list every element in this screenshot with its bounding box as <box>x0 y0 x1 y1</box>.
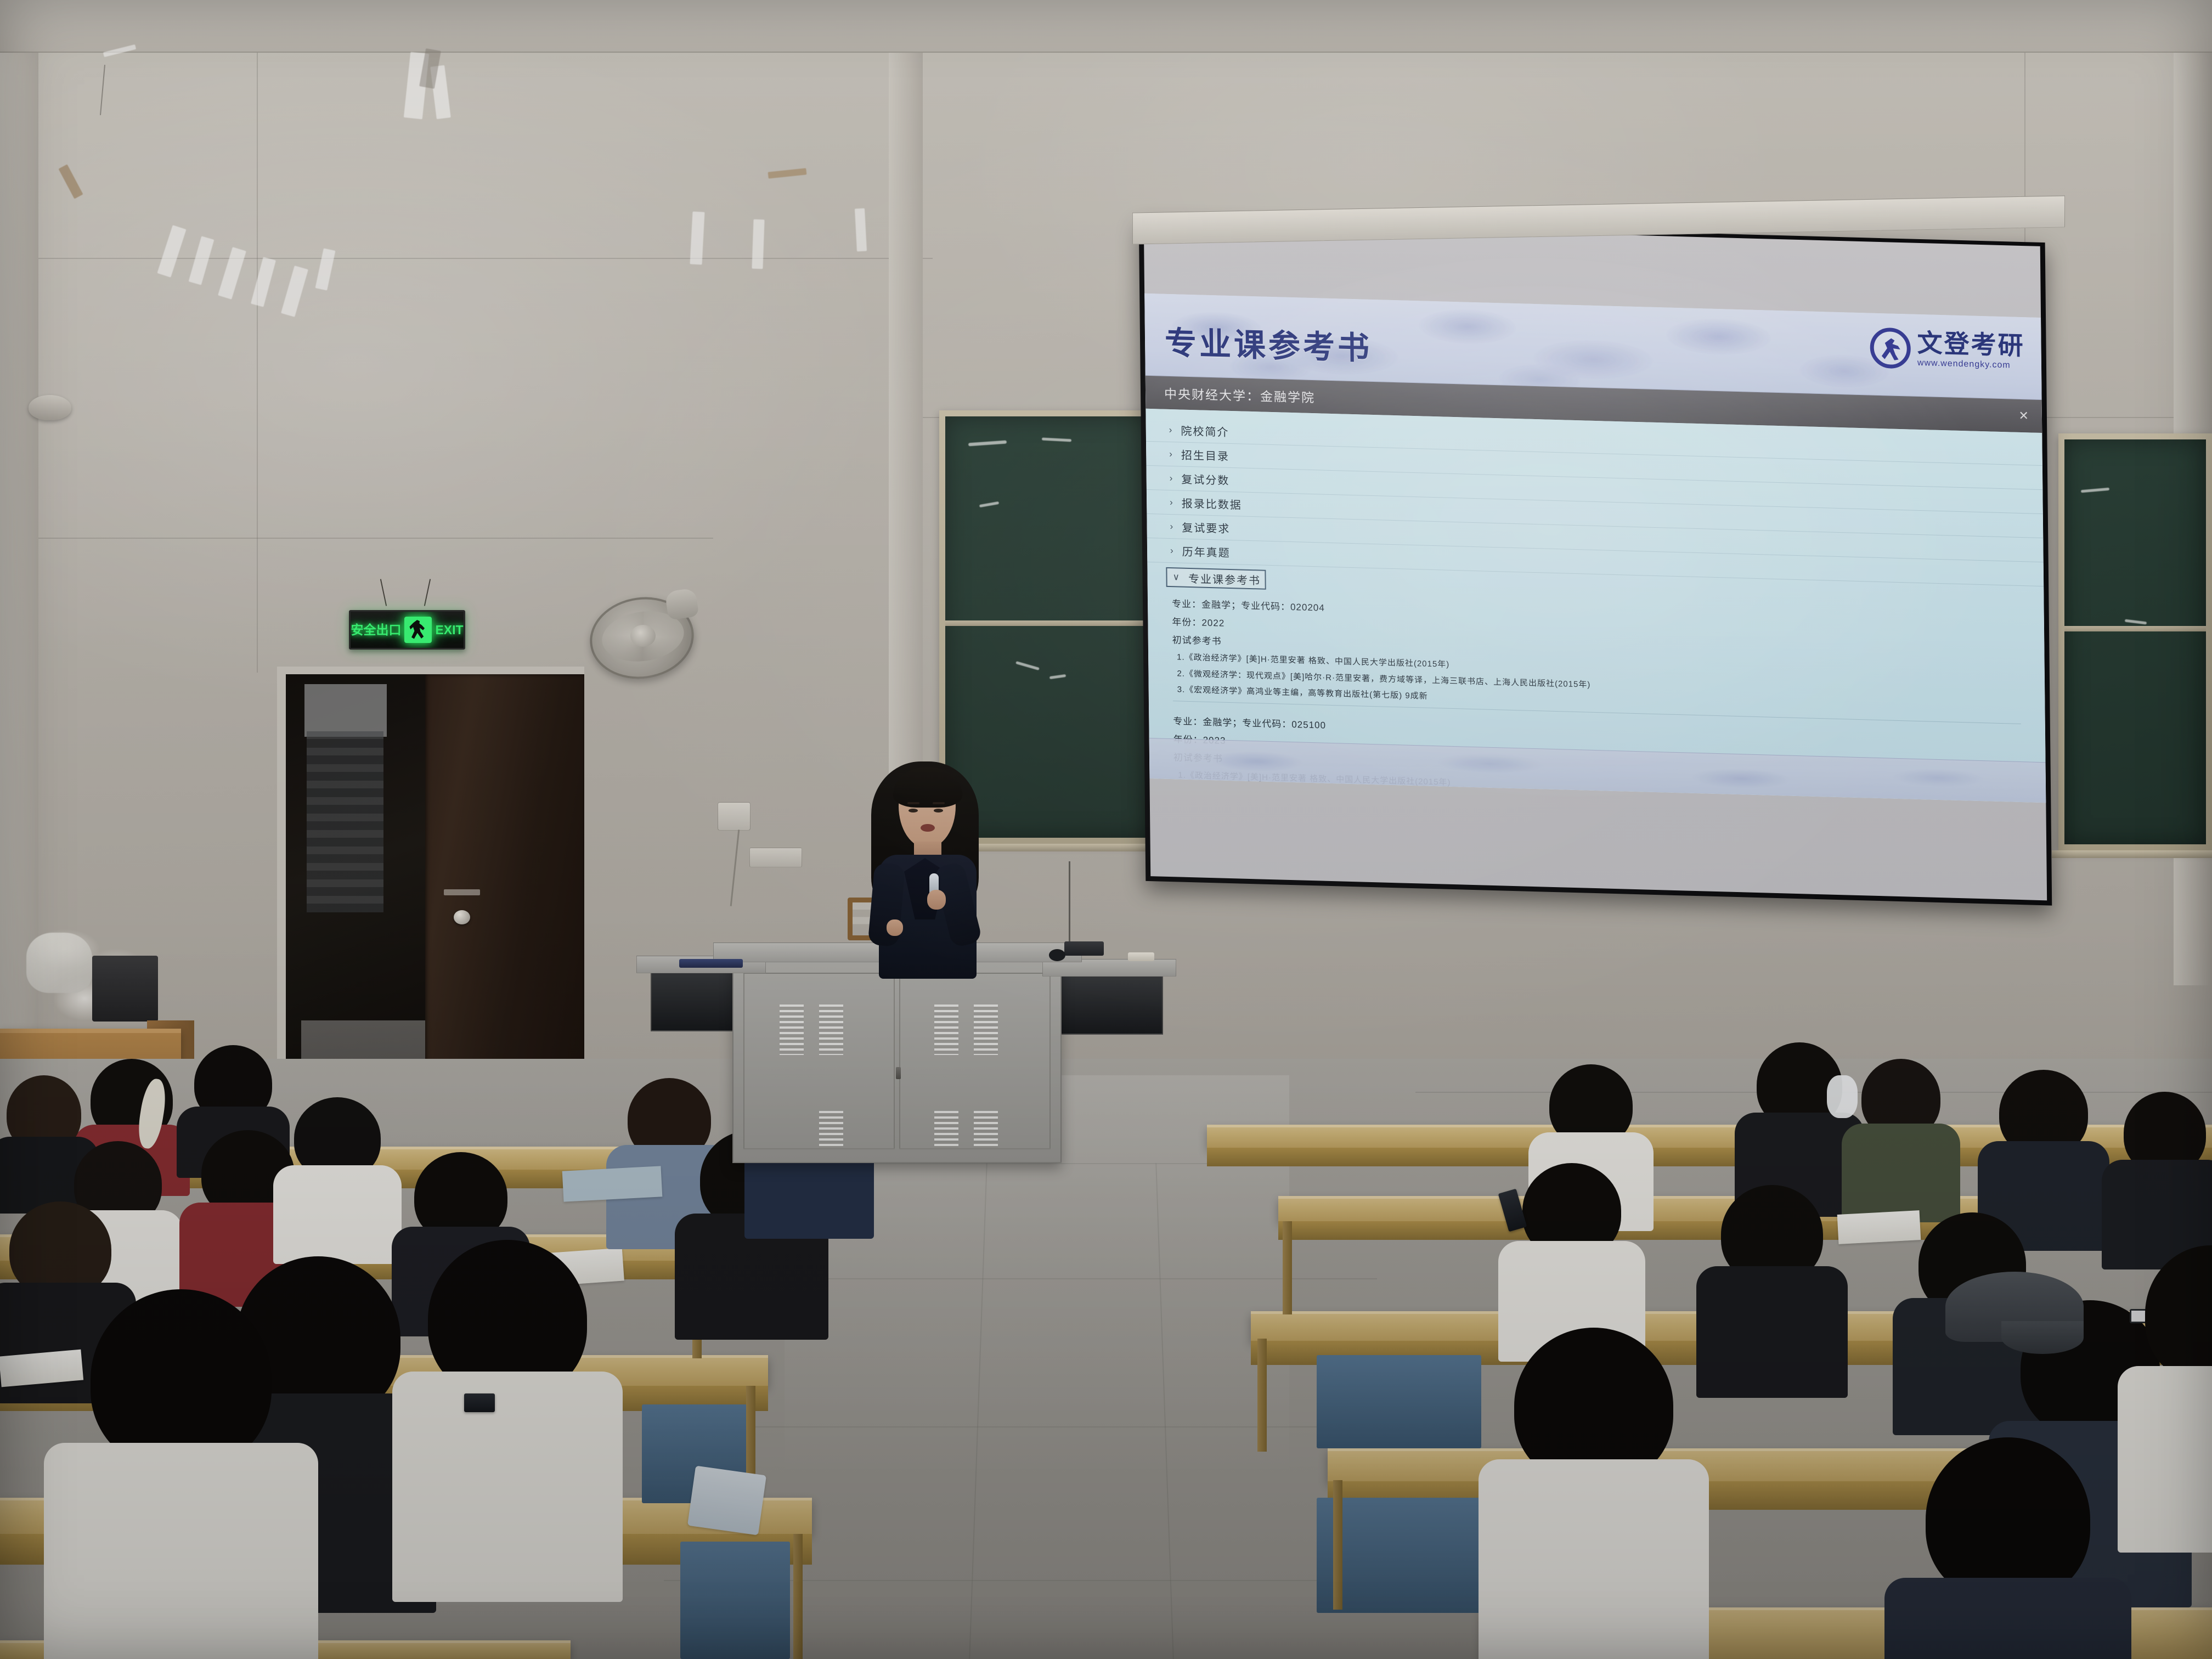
chalkboard-right <box>2058 433 2212 850</box>
exit-sign: 安全出口 EXIT <box>349 610 465 650</box>
presenter-brow-right <box>933 802 945 804</box>
student-torso <box>1479 1459 1709 1659</box>
accordion-label: 招生目录 <box>1181 447 1229 464</box>
accordion-label: 复试分数 <box>1181 471 1229 488</box>
chalk-mark <box>2125 619 2147 625</box>
fan-mount <box>665 588 699 620</box>
notebook-sheet <box>562 1166 663 1201</box>
wristwatch <box>464 1393 495 1412</box>
projected-slide: 专业课参考书 文登考研 www.wendengky.com 中央财经大学：金融学… <box>1144 294 2046 803</box>
wall-fan <box>590 590 699 686</box>
wall-pilaster <box>0 53 38 1062</box>
face-mask <box>1827 1075 1858 1118</box>
vent-louver <box>974 1005 998 1055</box>
student <box>187 1045 280 1144</box>
student-foreground <box>1909 1437 2107 1659</box>
bench-seat[interactable] <box>1317 1355 1481 1448</box>
chalkboard-divider <box>945 620 1154 626</box>
student-torso <box>1884 1578 2131 1659</box>
chevron-right-icon: › <box>1169 448 1173 459</box>
student-torso <box>1696 1266 1848 1398</box>
chalk-mark <box>1015 661 1040 670</box>
door-knob[interactable] <box>454 910 470 924</box>
cap-brim <box>2001 1321 2084 1354</box>
presenter-eye-left <box>909 809 918 812</box>
accordion-label: 复试要求 <box>1182 519 1230 536</box>
brand-name: 文登考研 <box>1917 330 2024 358</box>
wendeng-logo-icon <box>1870 328 1911 369</box>
av-lectern-cabinet[interactable] <box>732 957 1062 1163</box>
ceiling-beam <box>0 0 2212 53</box>
student <box>1991 1070 2096 1207</box>
slide-title: 专业课参考书 <box>1165 317 1373 369</box>
exit-sign-bracket <box>374 579 439 613</box>
chalk-eraser <box>1128 952 1154 961</box>
conduit-box <box>749 848 802 867</box>
chevron-right-icon: › <box>1169 424 1173 435</box>
exit-sign-label-cn: 安全出口 <box>351 624 401 636</box>
accordion-label: 报录比数据 <box>1182 495 1242 512</box>
chalk-mark <box>2081 488 2109 493</box>
entry-1-book-2: 3.《宏观经济学》高鸿业等主编，高等教育出版社(第七版) <box>1174 799 2046 803</box>
breadcrumb-text: 中央财经大学：金融学院 <box>1164 383 1315 405</box>
stacked-chairs-behind-door <box>307 731 383 912</box>
chalk-mark <box>1042 438 1071 442</box>
presenter <box>859 756 996 975</box>
vent-louver <box>974 1111 998 1149</box>
chevron-down-icon: ∨ <box>1172 572 1181 583</box>
student-foreground <box>417 1240 598 1525</box>
presenter-hand-mic <box>927 890 946 910</box>
bracket-right <box>424 579 431 606</box>
running-man-icon <box>404 617 432 643</box>
presenter-brow-left <box>907 802 919 804</box>
wall-scuff <box>752 219 764 269</box>
corridor-light <box>304 684 387 737</box>
wall-socket[interactable] <box>718 802 751 831</box>
vent-louver <box>819 1111 843 1149</box>
vent-louver <box>780 1005 804 1055</box>
exit-sign-label-en: EXIT <box>435 624 463 636</box>
student <box>1854 1059 1948 1185</box>
speaker-box <box>92 956 158 1022</box>
wall-seam <box>257 53 258 673</box>
cable-coil <box>1049 949 1065 961</box>
chalk-tray <box>2052 850 2212 858</box>
chevron-right-icon: › <box>1170 521 1174 532</box>
chalk-mark <box>1049 674 1066 679</box>
vent-louver <box>819 1005 843 1055</box>
accordion-label: 院校简介 <box>1181 422 1229 439</box>
chalkboard-surface <box>2064 439 2206 844</box>
student-head <box>2145 1245 2212 1383</box>
door-pushplate <box>444 889 480 895</box>
student-head <box>1926 1437 2090 1602</box>
student <box>2118 1092 2212 1229</box>
student-torso <box>273 1165 402 1264</box>
desk-leg <box>1257 1339 1267 1452</box>
slide-body: › 院校简介 › 招生目录 › 复试分数 › 报录比数据 <box>1145 409 2046 803</box>
brand-url: www.wendengky.com <box>1917 359 2025 370</box>
student-torso <box>44 1443 318 1659</box>
accordion-label: 历年真题 <box>1182 543 1231 560</box>
student-torso <box>1842 1124 1960 1222</box>
brand-text: 文登考研 www.wendengky.com <box>1917 330 2025 370</box>
wall-seam <box>0 538 713 539</box>
smoke-detector-icon <box>29 395 71 420</box>
bracket-left <box>380 579 387 606</box>
close-icon[interactable]: ✕ <box>2018 408 2030 423</box>
lecture-hall-photo: 安全出口 EXIT <box>0 0 2212 1659</box>
presenter-hand-left <box>887 919 903 936</box>
av-control-unit[interactable] <box>1064 941 1104 956</box>
classroom-door[interactable] <box>277 667 584 1103</box>
desk-leg <box>1283 1221 1292 1314</box>
student-torso <box>392 1372 623 1602</box>
wall-seam <box>0 258 933 259</box>
vent-louver <box>934 1005 958 1055</box>
plastic-bag <box>26 933 92 993</box>
chevron-right-icon: › <box>1170 496 1174 507</box>
chalk-mark <box>968 441 1007 447</box>
vent-louver <box>934 1111 958 1149</box>
student-foreground <box>2140 1245 2212 1476</box>
mic-antenna <box>1069 861 1070 944</box>
chevron-right-icon: › <box>1170 545 1175 556</box>
right-shelf-cavity <box>1059 969 1163 1035</box>
student <box>285 1097 390 1229</box>
screen-surface: 专业课参考书 文登考研 www.wendengky.com 中央财经大学：金融学… <box>1144 222 2047 901</box>
door-leaf[interactable] <box>425 674 584 1103</box>
fan-hub <box>630 625 656 647</box>
chevron-right-icon: › <box>1170 472 1174 483</box>
presenter-mouth <box>921 824 935 832</box>
bag-on-desk <box>687 1465 766 1535</box>
brand-logo: 文登考研 www.wendengky.com <box>1870 328 2025 373</box>
presenter-eye-right <box>934 809 943 812</box>
student <box>1514 1163 1629 1322</box>
student-torso <box>2118 1366 2212 1553</box>
student-foreground <box>1503 1328 1684 1613</box>
student <box>1712 1185 1832 1355</box>
chalkboard-divider <box>2064 626 2206 631</box>
accordion-item-6-expanded[interactable]: ∨ 专业课参考书 <box>1166 567 1266 590</box>
paper-sheet <box>1837 1210 1921 1244</box>
notebook-on-shelf <box>679 959 743 968</box>
desk-leg <box>1333 1480 1342 1610</box>
bench-seat[interactable] <box>680 1542 790 1659</box>
accordion-label: 专业课参考书 <box>1188 569 1261 588</box>
chalk-mark <box>979 501 999 507</box>
desk-leg <box>793 1534 803 1659</box>
floor-tile-seam <box>702 1426 1415 1427</box>
student-foreground <box>77 1289 285 1596</box>
projection-screen: 专业课参考书 文登考研 www.wendengky.com 中央财经大学：金融学… <box>1139 218 2052 905</box>
cabinet-lock[interactable] <box>896 1067 901 1079</box>
